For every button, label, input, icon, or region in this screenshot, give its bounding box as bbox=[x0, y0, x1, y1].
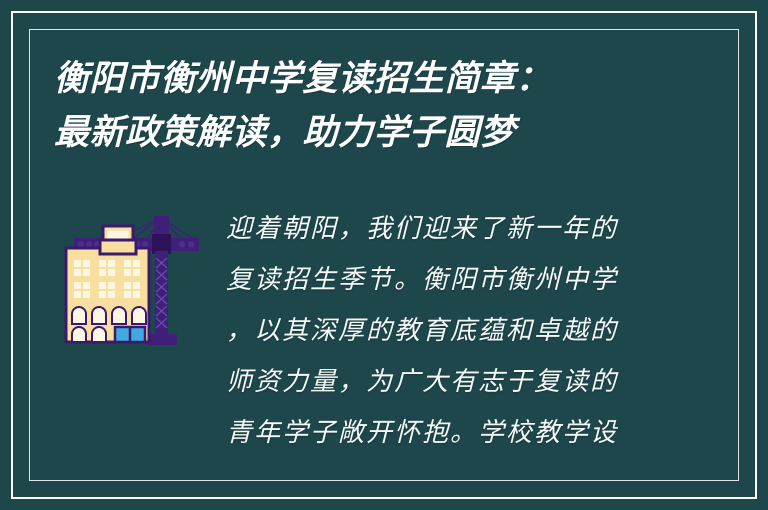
body-line-2: 复读招生季节。衡阳市衡州中学 bbox=[226, 255, 646, 306]
title-line-2: 最新政策解读，助力学子圆梦 bbox=[54, 106, 654, 160]
body-line-3: ，以其深厚的教育底蕴和卓越的 bbox=[226, 306, 646, 357]
body-line-5: 青年学子敞开怀抱。学校教学设 bbox=[226, 408, 646, 459]
poster-canvas: 衡阳市衡州中学复读招生简章： 最新政策解读，助力学子圆梦 bbox=[0, 0, 768, 510]
building-tower-section-icon bbox=[100, 240, 136, 254]
content-row: 迎着朝阳，我们迎来了新一年的 复读招生季节。衡阳市衡州中学 ，以其深厚的教育底蕴… bbox=[0, 196, 768, 476]
crane-base-icon bbox=[146, 334, 177, 345]
body-line-4: 师资力量，为广大有志于复读的 bbox=[226, 357, 646, 408]
school-building-with-crane-icon bbox=[58, 210, 206, 358]
title-line-1: 衡阳市衡州中学复读招生简章： bbox=[54, 52, 654, 106]
article-body: 迎着朝阳，我们迎来了新一年的 复读招生季节。衡阳市衡州中学 ，以其深厚的教育底蕴… bbox=[226, 204, 646, 459]
body-line-1: 迎着朝阳，我们迎来了新一年的 bbox=[226, 204, 646, 255]
page-title: 衡阳市衡州中学复读招生简章： 最新政策解读，助力学子圆梦 bbox=[54, 52, 654, 160]
